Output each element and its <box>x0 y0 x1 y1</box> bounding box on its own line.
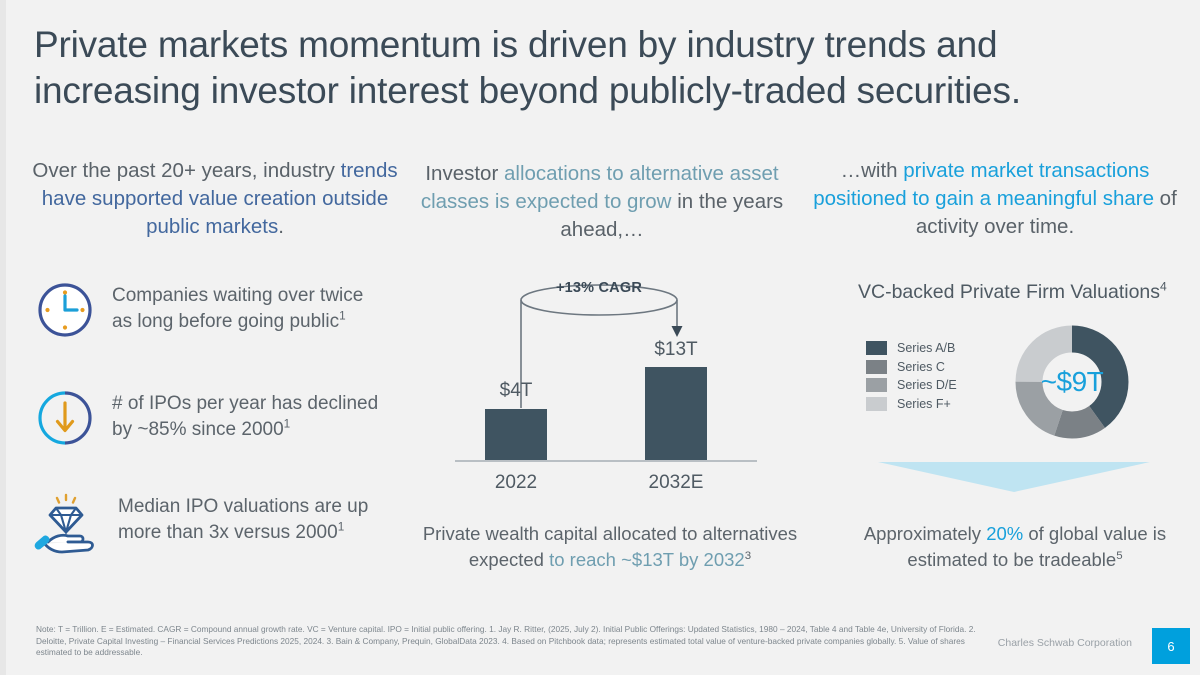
footnote-ref: 3 <box>745 550 751 562</box>
legend-item: Series D/E <box>866 378 957 392</box>
x-tick-2032e: 2032E <box>621 472 731 494</box>
slide-left-edge <box>0 0 6 675</box>
list-item-text: # of IPOs per year has declined by ~85% … <box>112 393 378 440</box>
headline-plain-left-b: . <box>278 215 284 238</box>
right-caption-highlight: 20% <box>986 523 1023 544</box>
bar-2022 <box>485 409 547 462</box>
donut-legend: Series A/B Series C Series D/E Series F+ <box>866 341 957 415</box>
middle-caption-highlight: to reach ~$13T by 2032 <box>549 549 745 570</box>
column-left-headline: Over the past 20+ years, industry trends… <box>24 157 406 241</box>
bar-value-label-2022: $4T <box>461 380 571 402</box>
x-tick-2022: 2022 <box>461 472 571 494</box>
legend-swatch-series-de <box>866 378 887 392</box>
headline-plain-left-a: Over the past 20+ years, industry <box>32 159 340 182</box>
brand-label: Charles Schwab Corporation <box>998 637 1132 649</box>
footnote-ref: 1 <box>284 418 291 431</box>
arrow-down-circle-icon <box>36 389 94 452</box>
right-caption-plain-a: Approximately <box>864 523 986 544</box>
page-title: Private markets momentum is driven by in… <box>34 22 1174 114</box>
footnote-text: Note: T = Trillion. E = Estimated. CAGR … <box>36 624 996 659</box>
diamond-in-hand-icon <box>32 492 100 561</box>
list-item: Median IPO valuations are up more than 3… <box>32 492 386 561</box>
chart-axis-line <box>455 460 757 462</box>
legend-swatch-series-ab <box>866 341 887 355</box>
list-item: Companies waiting over twice as long bef… <box>36 281 380 344</box>
list-item-text: Median IPO valuations are up more than 3… <box>118 496 368 543</box>
legend-swatch-series-fplus <box>866 397 887 411</box>
headline-plain-middle-a: Investor <box>425 162 504 185</box>
cagr-annotation-label: +13% CAGR <box>519 280 679 296</box>
footnote-ref: 5 <box>1116 550 1122 562</box>
legend-label-series-de: Series D/E <box>897 378 957 392</box>
legend-label-series-fplus: Series F+ <box>897 397 951 411</box>
footnote-ref: 1 <box>338 521 345 534</box>
list-item-label: Companies waiting over twice as long bef… <box>112 281 380 335</box>
donut-chart-title: VC-backed Private Firm Valuations4 <box>858 281 1188 304</box>
bar-value-label-2032e: $13T <box>621 339 731 361</box>
headline-plain-right-a: …with <box>841 159 904 182</box>
clock-icon <box>36 281 94 344</box>
legend-item: Series C <box>866 360 957 374</box>
donut-center-label: ~$9T <box>1002 312 1142 452</box>
legend-label-series-ab: Series A/B <box>897 341 955 355</box>
legend-swatch-series-c <box>866 360 887 374</box>
page-number-badge: 6 <box>1152 628 1190 664</box>
footnote-ref: 1 <box>339 310 346 323</box>
donut-chart-title-text: VC-backed Private Firm Valuations <box>858 281 1160 303</box>
slide-canvas: Private markets momentum is driven by in… <box>0 0 1200 675</box>
middle-caption: Private wealth capital allocated to alte… <box>404 521 816 573</box>
column-right-headline: …with private market transactions positi… <box>806 157 1184 241</box>
footnote-ref: 4 <box>1160 280 1167 294</box>
bar-chart: +13% CAGR $4T $13T 2022 2032E <box>455 282 765 502</box>
list-item-label: # of IPOs per year has declined by ~85% … <box>112 389 380 443</box>
legend-item: Series F+ <box>866 397 957 411</box>
legend-label-series-c: Series C <box>897 360 945 374</box>
chevron-down-icon <box>878 462 1150 497</box>
list-item-text: Companies waiting over twice as long bef… <box>112 285 363 332</box>
legend-item: Series A/B <box>866 341 957 355</box>
right-caption: Approximately 20% of global value is est… <box>850 521 1180 573</box>
column-middle-headline: Investor allocations to alternative asse… <box>408 160 796 244</box>
list-item-label: Median IPO valuations are up more than 3… <box>118 492 386 546</box>
bar-2032e <box>645 367 707 462</box>
list-item: # of IPOs per year has declined by ~85% … <box>36 389 380 452</box>
